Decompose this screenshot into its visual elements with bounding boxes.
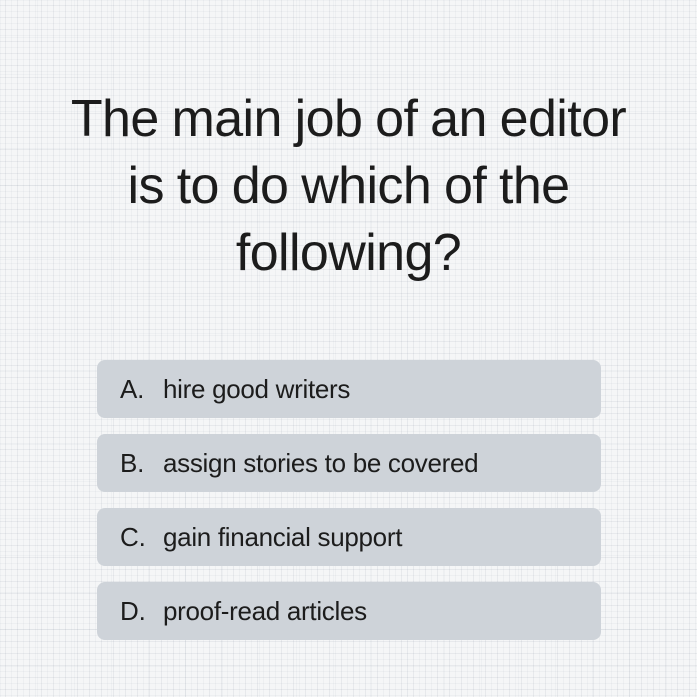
option-letter-a: A. <box>120 374 163 405</box>
option-choice-a[interactable]: A. hire good writers <box>97 360 601 418</box>
option-label-c: gain financial support <box>163 522 601 553</box>
quiz-card: The main job of an editor is to do which… <box>0 0 697 697</box>
option-label-a: hire good writers <box>163 374 601 405</box>
option-label-d: proof-read articles <box>163 596 601 627</box>
option-letter-c: C. <box>120 522 163 553</box>
options-list: A. hire good writers B. assign stories t… <box>97 360 601 640</box>
question-block: The main job of an editor is to do which… <box>50 86 647 287</box>
option-choice-c[interactable]: C. gain financial support <box>97 508 601 566</box>
option-letter-d: D. <box>120 596 163 627</box>
option-choice-b[interactable]: B. assign stories to be covered <box>97 434 601 492</box>
option-letter-b: B. <box>120 448 163 479</box>
option-choice-d[interactable]: D. proof-read articles <box>97 582 601 640</box>
question-text: The main job of an editor is to do which… <box>50 86 647 287</box>
option-label-b: assign stories to be covered <box>163 448 601 479</box>
